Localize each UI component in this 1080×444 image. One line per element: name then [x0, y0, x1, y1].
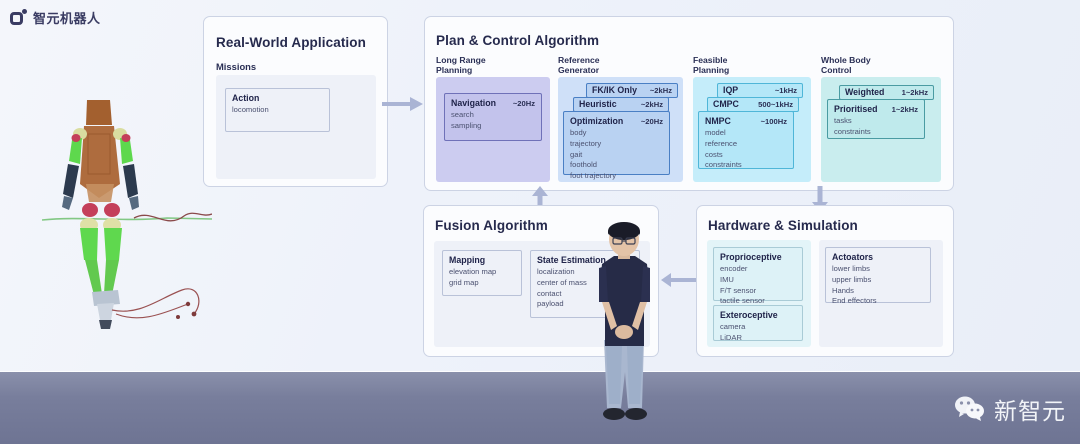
humanoid-robot-render [42, 98, 212, 343]
card-title: Mapping [449, 255, 485, 265]
card-heuristic: Heuristic ~2kHz [573, 97, 669, 112]
card-action: Action locomotion [225, 88, 330, 132]
card-title: Heuristic [579, 99, 617, 109]
column-label-whole-body-control: Whole Body Control [821, 55, 871, 75]
card-mapping: Mapping elevation mapgrid map [442, 250, 522, 296]
card-nmpc: NMPC ~100Hz modelreferencecostsconstrain… [698, 111, 794, 169]
column-body-feasible-planning: IQP ~1kHz CMPC 500~1kHz NMPC ~100Hz mode… [693, 77, 811, 182]
card-items: elevation mapgrid map [449, 267, 515, 289]
card-cmpc: CMPC 500~1kHz [707, 97, 799, 112]
stage-floor [0, 372, 1080, 444]
panel-title: Fusion Algorithm [435, 218, 548, 233]
panel-title: Real-World Application [216, 35, 366, 50]
column-body-actuation: Actoators lower limbsupper limbsHandsEnd… [819, 240, 943, 347]
column-body-missions: Action locomotion [216, 75, 376, 179]
card-title: Proprioceptive [720, 252, 782, 262]
card-frequency: ~100Hz [761, 117, 787, 126]
column-body-sensors: Proprioceptive encoderIMUF/T sensortacti… [707, 240, 811, 347]
card-items: lower limbsupper limbsHandsEnd effectors [832, 264, 924, 307]
brand-logo: 智元机器人 [10, 8, 101, 27]
card-title: Prioritised [834, 104, 878, 114]
panel-hardware-simulation: Hardware & Simulation Proprioceptive enc… [696, 205, 954, 357]
card-proprioceptive: Proprioceptive encoderIMUF/T sensortacti… [713, 247, 803, 301]
card-exteroceptive: Exteroceptive cameraLiDAR [713, 305, 803, 341]
panel-title: Plan & Control Algorithm [436, 33, 599, 48]
column-label-long-range-planning: Long Range Planning [436, 55, 486, 75]
card-title: Weighted [845, 87, 884, 97]
card-frequency: ~20Hz [641, 117, 663, 126]
agibot-logo-icon [10, 9, 27, 26]
card-navigation: Navigation ~20Hz searchsampling [444, 93, 542, 141]
card-fk-ik-only: FK/IK Only ~2kHz [586, 83, 678, 98]
card-frequency: ~20Hz [513, 99, 535, 108]
card-prioritised: Prioritised 1~2kHz tasksconstraints [827, 99, 925, 139]
card-frequency: 1~2kHz [892, 105, 918, 114]
card-title: FK/IK Only [592, 85, 637, 95]
card-title: IQP [723, 85, 738, 95]
card-items: tasksconstraints [834, 116, 918, 138]
column-body-reference-generator: FK/IK Only ~2kHz Heuristic ~2kHz Optimiz… [558, 77, 683, 182]
card-weighted: Weighted 1~2kHz [839, 85, 934, 100]
column-body-whole-body-control: Weighted 1~2kHz Prioritised 1~2kHz tasks… [821, 77, 941, 182]
card-frequency: ~2kHz [650, 86, 672, 95]
card-frequency: ~1kHz [775, 86, 797, 95]
card-frequency: 500~1kHz [758, 100, 793, 109]
card-title: CMPC [713, 99, 739, 109]
card-items: searchsampling [451, 110, 535, 132]
card-items: encoderIMUF/T sensortactile sensor [720, 264, 796, 307]
card-items: cameraLiDAR [720, 322, 796, 344]
card-frequency: ~2kHz [641, 100, 663, 109]
card-title: Optimization [570, 116, 623, 126]
card-frequency: 1~2kHz [902, 88, 928, 97]
card-title: Navigation [451, 98, 496, 108]
wechat-icon [953, 395, 987, 423]
card-items: bodytrajectorygaitfootholdfoot trajector… [570, 128, 663, 182]
presenter-person [578, 222, 670, 434]
card-items: locomotion [232, 105, 323, 116]
brand-name: 智元机器人 [33, 8, 101, 27]
card-title: Exteroceptive [720, 310, 778, 320]
column-label-reference-generator: Reference Generator [558, 55, 600, 75]
watermark-text: 新智元 [994, 392, 1066, 426]
card-title: Action [232, 93, 259, 103]
column-body-long-range-planning: Navigation ~20Hz searchsampling [436, 77, 550, 182]
watermark: 新智元 [953, 392, 1066, 426]
column-label-missions: Missions [216, 61, 256, 72]
column-label-feasible-planning: Feasible Planning [693, 55, 729, 75]
panel-plan-control-algorithm: Plan & Control Algorithm Long Range Plan… [424, 16, 954, 191]
panel-title: Hardware & Simulation [708, 218, 858, 233]
card-optimization: Optimization ~20Hz bodytrajectorygaitfoo… [563, 111, 670, 175]
arrow-app-to-plan [382, 96, 424, 112]
card-actuators: Actoators lower limbsupper limbsHandsEnd… [825, 247, 931, 303]
card-title: Actoators [832, 252, 873, 262]
panel-real-world-application: Real-World Application Missions Action l… [203, 16, 388, 187]
card-title: NMPC [705, 116, 731, 126]
card-iqp: IQP ~1kHz [717, 83, 803, 98]
card-items: modelreferencecostsconstraints [705, 128, 787, 171]
